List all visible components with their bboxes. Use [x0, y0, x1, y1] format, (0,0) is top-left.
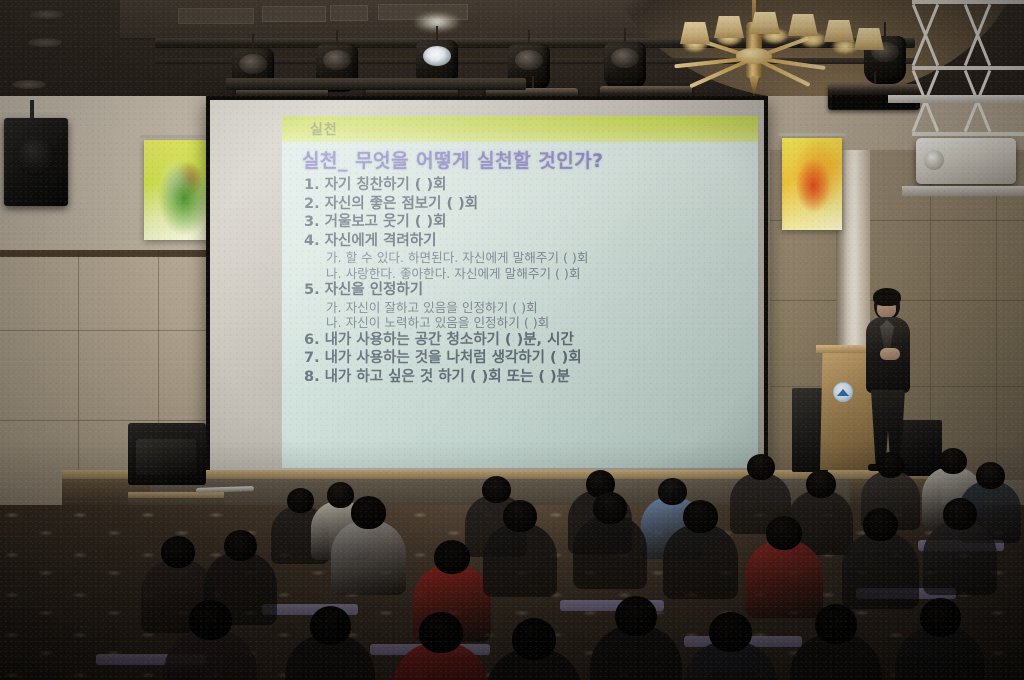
audience-torso — [663, 524, 738, 599]
recessed-light-icon — [28, 38, 62, 47]
presenter — [860, 290, 916, 475]
audience-member — [285, 606, 375, 680]
wall-banner-green — [144, 140, 214, 240]
projector-mount-plate — [902, 186, 1024, 196]
audience-member — [895, 598, 985, 680]
projector-shelf — [888, 95, 1024, 103]
slide-sub-item: 나. 사랑한다. 좋아한다. 자신에게 말해주기 ( )회 — [326, 268, 754, 281]
audience-member — [331, 496, 406, 604]
audience-member — [684, 612, 777, 680]
recessed-light-icon — [30, 10, 64, 19]
audience-head — [351, 496, 386, 529]
slide-bullet-list: 1. 자기 칭찬하기 ( )회2. 자신의 좋은 점보기 ( )회3. 거울보고… — [304, 178, 754, 388]
audience-head — [766, 516, 802, 550]
audience-head — [224, 530, 257, 561]
slide-list-item: 2. 자신의 좋은 점보기 ( )회 — [304, 197, 754, 212]
audience-head — [863, 508, 898, 541]
audience-member — [923, 498, 997, 604]
presenter-hair — [873, 288, 901, 306]
audience-member — [486, 618, 582, 680]
audience-head — [709, 612, 752, 652]
ceiling-vent — [178, 8, 254, 24]
audience-member — [393, 612, 488, 680]
audience-torso — [483, 523, 557, 597]
audience-head — [189, 600, 232, 640]
slide-sub-item: 가. 할 수 있다. 하면된다. 자신에게 말해주기 ( )회 — [326, 252, 754, 265]
audience-head — [503, 500, 537, 532]
chandelier-shade — [750, 12, 780, 34]
chandelier-shade — [788, 14, 818, 36]
wall-speaker — [4, 118, 68, 206]
audience-head — [747, 454, 775, 480]
audience-head — [806, 470, 836, 498]
audience-head — [615, 596, 657, 636]
slide-list-item: 4. 자신에게 격려하기 — [304, 234, 754, 249]
audience-head — [161, 536, 195, 568]
audience-head — [434, 540, 470, 574]
ceiling-vent — [330, 5, 368, 21]
slide-list-item: 8. 내가 하고 싶은 것 하기 ( )회 또는 ( )분 — [304, 370, 754, 385]
slide-list-item: 6. 내가 사용하는 공간 청소하기 ( )분, 시간 — [304, 333, 754, 348]
audience-member — [483, 500, 557, 606]
chandelier-shade — [680, 22, 710, 44]
slide-sub-item: 나. 자신이 노력하고 있음을 인정하기 ( )회 — [326, 317, 754, 330]
audience-member — [164, 600, 257, 680]
ceiling-projector — [916, 138, 1016, 184]
audience-member — [573, 492, 647, 598]
slide-list-item: 3. 거울보고 웃기 ( )회 — [304, 215, 754, 230]
audience-member — [790, 604, 882, 680]
chandelier-shade — [824, 20, 854, 42]
audience-head — [310, 606, 351, 645]
audience-head — [877, 452, 904, 478]
wall-banner-orange — [782, 138, 842, 230]
chandelier-shade — [714, 16, 744, 38]
audience-head — [593, 492, 627, 524]
audience-torso — [331, 520, 406, 595]
slide-sub-item: 가. 자신이 잘하고 있음을 인정하기 ( )회 — [326, 302, 754, 315]
audience-member — [663, 500, 738, 608]
screen-roller-case — [226, 78, 526, 90]
presenter-hands-with-mic — [880, 348, 900, 360]
recessed-light-icon — [12, 80, 46, 89]
audience-head — [943, 498, 977, 530]
slide-top-band — [282, 116, 758, 142]
slide-list-item: 5. 자신을 인정하기 — [304, 283, 754, 298]
auditorium-photo: 실천 실천_ 무엇을 어떻게 실천할 것인가? 1. 자기 칭찬하기 ( )회2… — [0, 0, 1024, 680]
audience-head — [512, 618, 556, 660]
floor-monitor — [128, 423, 206, 485]
slide-list-item: 7. 내가 사용하는 것을 나처럼 생각하기 ( )회 — [304, 351, 754, 366]
slide-content: 실천 실천_ 무엇을 어떻게 실천할 것인가? 1. 자기 칭찬하기 ( )회2… — [282, 116, 758, 468]
projector-lens-icon — [924, 150, 944, 170]
audience-head — [976, 462, 1005, 489]
audience-torso — [573, 515, 647, 589]
audience-head — [920, 598, 961, 637]
chandelier-shade — [854, 28, 884, 50]
audience-member — [590, 596, 682, 680]
projection-screen: 실천 실천_ 무엇을 어떻게 실천할 것인가? 1. 자기 칭찬하기 ( )회2… — [206, 96, 768, 488]
chandelier-finial — [749, 76, 759, 96]
audience-head — [482, 476, 511, 503]
slide-list-item: 1. 자기 칭찬하기 ( )회 — [304, 178, 754, 193]
audience-head — [683, 500, 718, 533]
slide-title: 실천_ 무엇을 어떻게 실천할 것인가? — [302, 146, 742, 173]
audience-head — [815, 604, 857, 644]
podium-logo-icon — [833, 382, 853, 402]
screen-surface: 실천 실천_ 무엇을 어떻게 실천할 것인가? 1. 자기 칭찬하기 ( )회2… — [210, 100, 764, 484]
chandelier-hub — [736, 48, 772, 64]
slide-band-label: 실천 — [310, 119, 338, 139]
ceiling-vent — [262, 6, 326, 22]
audience-torso — [923, 521, 997, 595]
audience-head — [419, 612, 463, 653]
